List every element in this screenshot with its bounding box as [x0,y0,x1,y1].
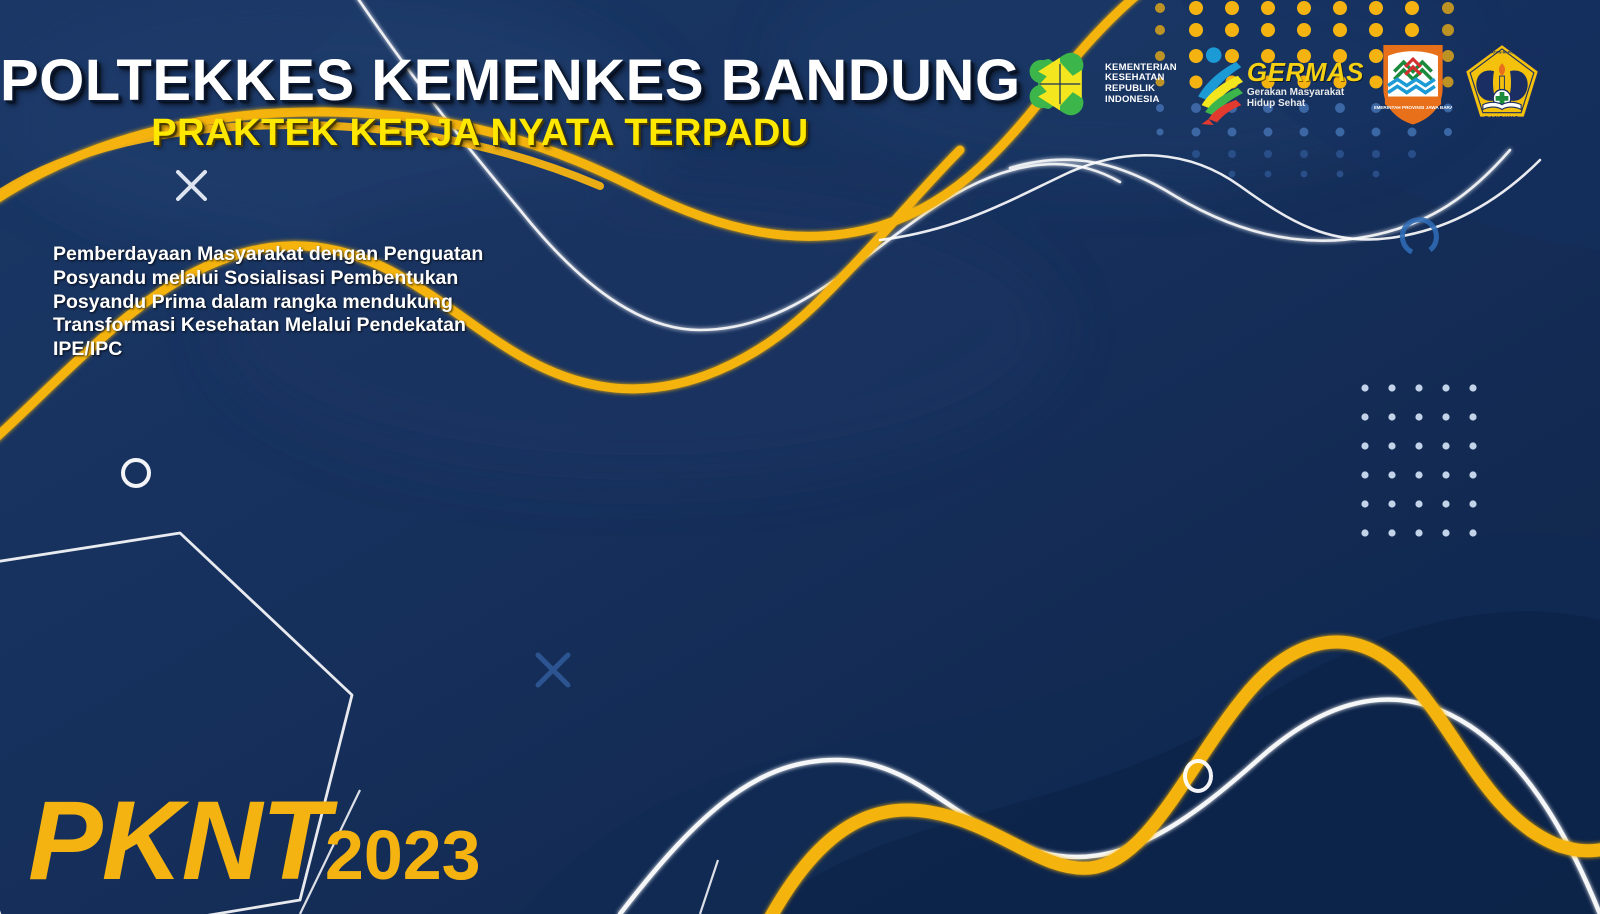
pknt-footer-mark: PKNT 2023 [28,791,481,892]
jawa-barat-emblem: PEMERINTAH PROVINSI JAWA BARAT [1374,38,1452,130]
germas-tagline: Gerakan Masyarakat Hidup Sehat [1247,87,1364,110]
poster-canvas: POLTEKKES KEMENKES BANDUNG PRAKTEK KERJA… [0,0,1600,914]
description-line-3: Posyandu Prima dalam rangka mendukung [53,291,573,315]
germas-title: GERMAS [1247,59,1364,85]
poltekkes-top-text: KEMENTERIAN KESEHATAN RI POLITEKNIK KESE… [1462,50,1542,55]
kemenkes-logo: KEMENTERIAN KESEHATAN REPUBLIK INDONESIA [1021,38,1177,130]
description-line-1: Pemberdayaan Masyarakat dengan Penguatan [53,243,573,267]
page-title: POLTEKKES KEMENKES BANDUNG [0,52,960,110]
jawa-barat-label: PEMERINTAH PROVINSI JAWA BARAT [1374,105,1452,110]
description-line-5: IPE/IPC [53,338,573,362]
program-description: Pemberdayaan Masyarakat dengan Penguatan… [53,243,573,362]
germas-wordmark: GERMAS Gerakan Masyarakat Hidup Sehat [1247,59,1364,110]
page-subtitle: PRAKTEK KERJA NYATA TERPADU [0,114,960,152]
poltekkes-bottom-text: BANDUNG [1484,116,1519,122]
header-title-block: POLTEKKES KEMENKES BANDUNG PRAKTEK KERJA… [0,52,960,152]
kemenkes-clover-icon [1021,45,1099,123]
kemenkes-wordmark: KEMENTERIAN KESEHATAN REPUBLIK INDONESIA [1105,63,1177,106]
jawa-barat-shield-icon: PEMERINTAH PROVINSI JAWA BARAT [1374,40,1452,128]
pknt-year: 2023 [325,824,481,887]
kemenkes-line-4: INDONESIA [1105,95,1177,106]
description-line-2: Posyandu melalui Sosialisasi Pembentukan [53,267,573,291]
germas-logo: GERMAS Gerakan Masyarakat Hidup Sehat [1187,38,1364,130]
description-line-4: Transformasi Kesehatan Melalui Pendekata… [53,314,573,338]
germas-tagline-line-1: Gerakan Masyarakat [1247,87,1364,99]
poltekkes-pentagon-icon: KEMENTERIAN KESEHATAN RI POLITEKNIK KESE… [1462,41,1542,127]
poltekkes-bandung-emblem: KEMENTERIAN KESEHATAN RI POLITEKNIK KESE… [1462,38,1542,130]
pknt-acronym: PKNT [28,791,329,892]
germas-figure-icon [1187,43,1249,125]
germas-tagline-line-2: Hidup Sehat [1247,98,1364,110]
logo-strip: KEMENTERIAN KESEHATAN REPUBLIK INDONESIA… [1021,38,1542,130]
